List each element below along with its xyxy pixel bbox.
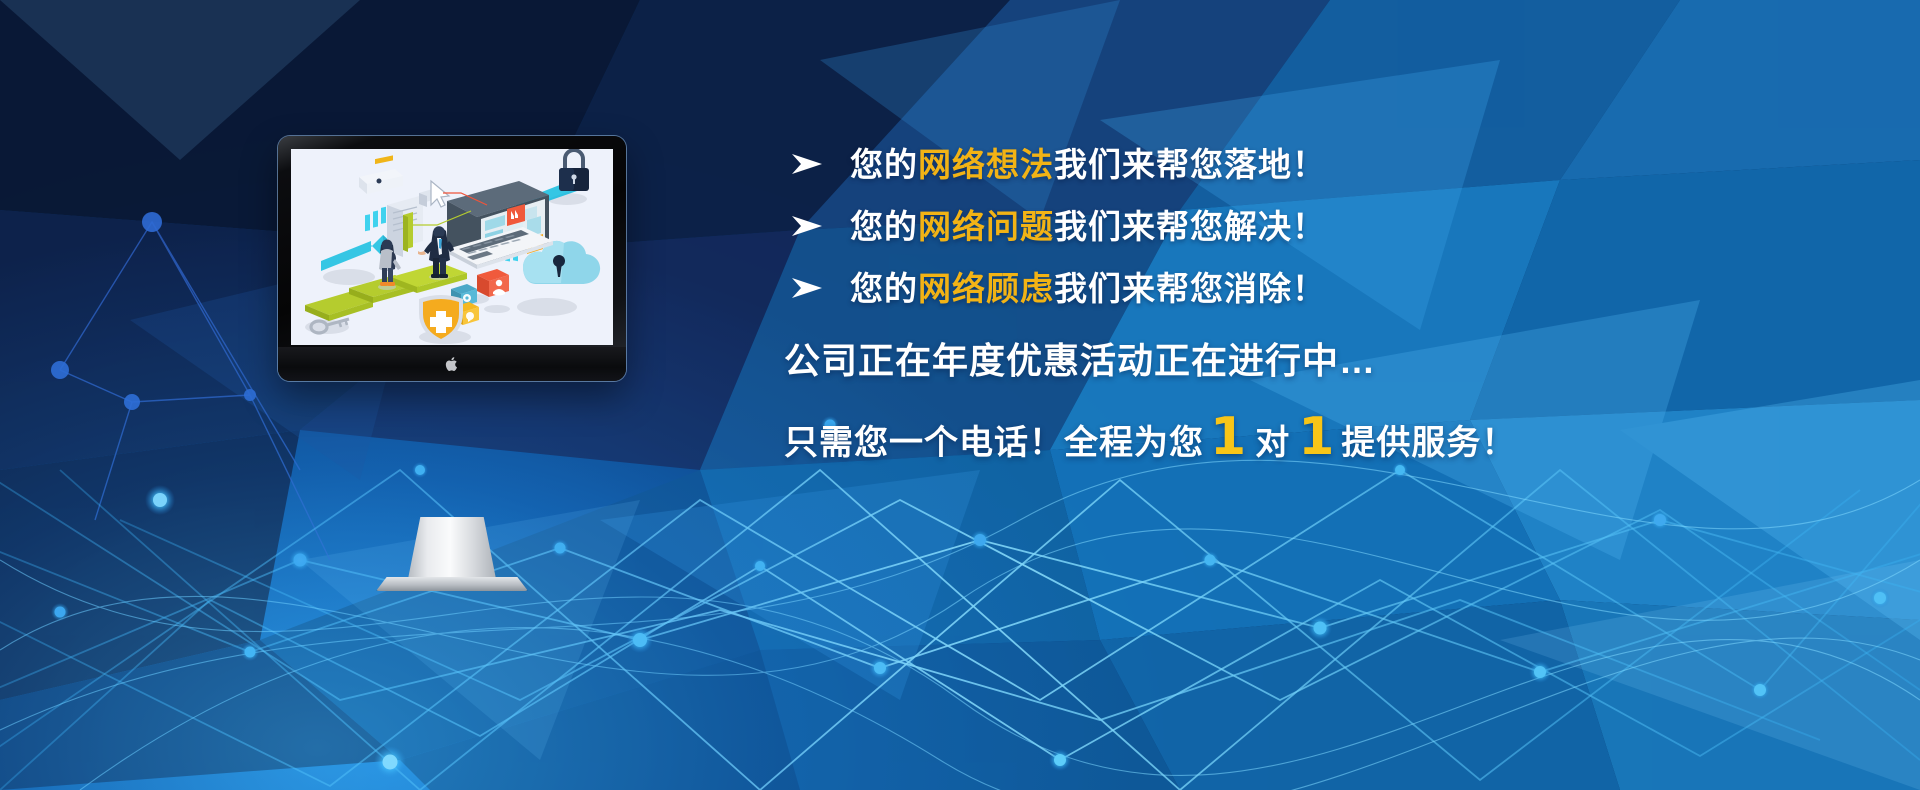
arrow-bullet-icon (790, 213, 824, 239)
bullet-text-3: 您的网络顾虑我们来帮您消除！ (850, 272, 1326, 305)
arrow-bullet-icon (790, 275, 824, 301)
cta-lead: 只需您一个电话！全程为您 (784, 425, 1204, 462)
bullet-text-2: 您的网络问题我们来帮您解决！ (850, 210, 1326, 243)
bullet-2-post: 我们来帮您解决！ (1054, 208, 1326, 245)
isometric-security-scene (291, 149, 613, 345)
arrow-bullet-icon (790, 151, 824, 177)
cta-number-one-second: 1 (1292, 411, 1341, 463)
cta-tail: 提供服务！ (1341, 425, 1516, 462)
apple-logo-icon (445, 356, 459, 372)
cta-number-one-first: 1 (1204, 411, 1253, 463)
bullet-2-pre: 您的 (850, 208, 918, 245)
cta-middle: 对 (1253, 425, 1292, 462)
promo-banner: 您的网络想法我们来帮您落地！ 您的网络问题我们来帮您解决！ 您的网络顾虑我们来帮… (0, 0, 1920, 790)
bullet-1-pre: 您的 (850, 146, 918, 183)
copy-block: 您的网络想法我们来帮您落地！ 您的网络问题我们来帮您解决！ 您的网络顾虑我们来帮… (790, 133, 1800, 463)
bullet-3-post: 我们来帮您消除！ (1054, 270, 1326, 307)
bullet-1-post: 我们来帮您落地！ (1054, 146, 1326, 183)
promo-line: 公司正在年度优惠活动正在进行中… (784, 341, 1800, 381)
monitor-stand-base (376, 577, 528, 591)
bullet-1-highlight: 网络想法 (918, 146, 1054, 183)
bullet-3-pre: 您的 (850, 270, 918, 307)
bullet-3-highlight: 网络顾虑 (918, 270, 1054, 307)
green-bar (403, 212, 413, 252)
monitor-screen (291, 149, 613, 345)
bullet-text-1: 您的网络想法我们来帮您落地！ (850, 148, 1326, 181)
bullet-2-highlight: 网络问题 (918, 208, 1054, 245)
bullet-row-3: 您的网络顾虑我们来帮您消除！ (790, 257, 1800, 319)
monitor-stand-neck (408, 517, 496, 579)
cta-line: 只需您一个电话！全程为您 1 对 1 提供服务！ (784, 411, 1800, 463)
monitor-chin (278, 347, 626, 381)
imac-monitor-illustration (278, 136, 626, 381)
bullet-row-2: 您的网络问题我们来帮您解决！ (790, 195, 1800, 257)
bullet-row-1: 您的网络想法我们来帮您落地！ (790, 133, 1800, 195)
